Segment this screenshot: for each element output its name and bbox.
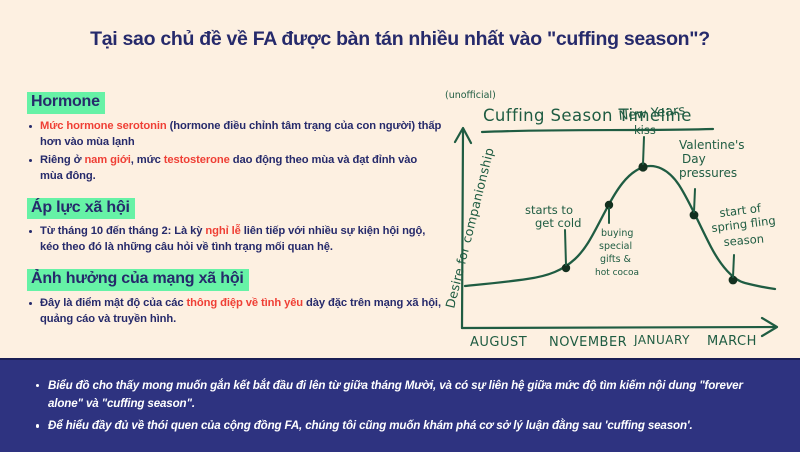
bullet-accent-text: Mức hormone serotonin bbox=[40, 120, 167, 132]
list-item: Để hiểu đầy đủ về thói quen của cộng đồn… bbox=[34, 417, 760, 435]
bullet-text: Riêng ở bbox=[40, 154, 84, 166]
bullet-text: , mức bbox=[131, 154, 164, 166]
list-item: Từ tháng 10 đến tháng 2: Là kỳ nghỉ lễ l… bbox=[27, 224, 442, 256]
footer-band: Biểu đồ cho thấy mong muốn gắn kết bắt đ… bbox=[0, 358, 800, 452]
list-item: Đây là điểm mật độ của các thông điệp về… bbox=[27, 296, 442, 328]
annotation-label: season bbox=[723, 232, 765, 249]
section-social-media: Ảnh hưởng của mạng xã hội Đây là điểm mậ… bbox=[27, 269, 442, 328]
list-item: Mức hormone serotonin (hormone điều chỉn… bbox=[27, 119, 442, 151]
bullet-text: Đây là điểm mật độ của các bbox=[40, 297, 187, 309]
bullet-text: Từ tháng 10 đến tháng 2: Là kỳ bbox=[40, 225, 205, 237]
x-tick-label: NOVEMBER bbox=[549, 335, 627, 346]
list-item: Biểu đồ cho thấy mong muốn gắn kết bắt đ… bbox=[34, 377, 760, 412]
cuffing-season-chart: Desire for companionship (unofficial) Cu… bbox=[441, 84, 793, 346]
page-title: Tại sao chủ đề về FA được bàn tán nhiều … bbox=[0, 28, 800, 51]
annotation-label: kiss bbox=[634, 123, 656, 137]
section-hormone: Hormone Mức hormone serotonin (hormone đ… bbox=[27, 92, 442, 185]
data-point-spring-fling: start of spring fling season bbox=[711, 201, 777, 284]
annotation-label: Day bbox=[682, 152, 706, 166]
annotation-label: special bbox=[599, 241, 632, 252]
footer-bullet-list: Biểu đồ cho thấy mong muốn gắn kết bắt đ… bbox=[0, 360, 800, 435]
section-heading: Ảnh hưởng của mạng xã hội bbox=[27, 269, 249, 291]
slide-canvas: Tại sao chủ đề về FA được bàn tán nhiều … bbox=[0, 0, 800, 450]
annotation-label: starts to bbox=[525, 203, 573, 217]
bullet-list: Từ tháng 10 đến tháng 2: Là kỳ nghỉ lễ l… bbox=[27, 224, 442, 256]
annotation-label: hot cocoa bbox=[595, 268, 639, 278]
bullet-accent-text: nam giới bbox=[84, 154, 130, 166]
chart-subtitle: (unofficial) bbox=[445, 90, 496, 101]
bullet-list: Mức hormone serotonin (hormone điều chỉn… bbox=[27, 119, 442, 185]
x-tick-label: JANUARY bbox=[633, 333, 690, 346]
bullet-list: Đây là điểm mật độ của các thông điệp về… bbox=[27, 296, 442, 328]
annotation-label: Valentine's bbox=[679, 138, 745, 152]
section-heading: Hormone bbox=[27, 92, 105, 114]
list-item: Riêng ở nam giới, mức testosterone dao đ… bbox=[27, 153, 442, 185]
bullet-accent-text: testosterone bbox=[164, 154, 230, 166]
annotation-label: gifts & bbox=[600, 254, 632, 265]
section-heading: Áp lực xã hội bbox=[27, 198, 135, 220]
data-point-buying-gifts: buying special gifts & hot cocoa bbox=[595, 201, 639, 278]
annotation-label: pressures bbox=[679, 166, 737, 180]
section-social-pressure: Áp lực xã hội Từ tháng 10 đến tháng 2: L… bbox=[27, 198, 442, 257]
x-tick-label: AUGUST bbox=[470, 335, 527, 346]
annotation-label: buying bbox=[601, 228, 633, 239]
bullet-accent-text: thông điệp về tình yêu bbox=[187, 297, 304, 309]
annotation-label: get cold bbox=[535, 216, 581, 230]
bullet-accent-text: nghỉ lễ bbox=[205, 225, 240, 237]
x-tick-label: MARCH bbox=[707, 334, 757, 346]
data-point-new-years-kiss: New Years kiss bbox=[618, 103, 686, 171]
content-column: Hormone Mức hormone serotonin (hormone đ… bbox=[27, 92, 442, 330]
